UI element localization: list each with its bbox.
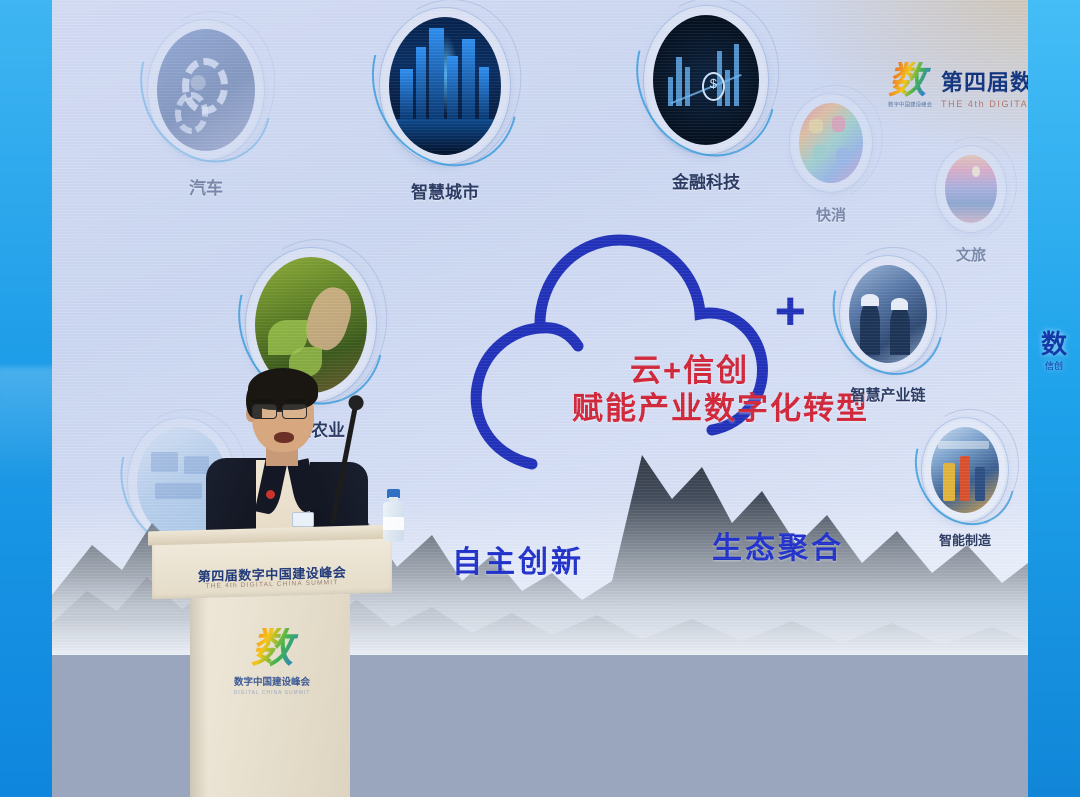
summit-title-en: THE 4th DIGITAL CHINA SUMMIT bbox=[941, 99, 1028, 109]
summit-logo-lockup: 数 数字中国建设峰会 第四届数字中国建设峰会 THE 4th DIGITAL C… bbox=[888, 62, 1028, 112]
gear-car-icon bbox=[150, 22, 262, 158]
right-panel-sub: 信创 bbox=[1028, 362, 1080, 372]
summit-logo-text: 第四届数字中国建设峰会 THE 4th DIGITAL CHINA SUMMIT bbox=[941, 65, 1028, 109]
slogan-ecosystem-aggregation: 生态聚合 bbox=[712, 523, 844, 567]
cloud-outline-graphic: + bbox=[454, 196, 784, 506]
node-industry-chain: 智慧产业链 bbox=[842, 258, 934, 370]
water-bottle bbox=[382, 489, 405, 541]
node-intelligent-manufacturing: 智能制造 bbox=[924, 420, 1006, 520]
eyebrow-left bbox=[252, 399, 274, 402]
scenery-icon bbox=[938, 148, 1004, 230]
right-panel-text: 数 信创 bbox=[1028, 330, 1080, 371]
right-led-panel: 数 信创 bbox=[1028, 0, 1080, 797]
industry-chain-icon bbox=[842, 258, 934, 370]
node-label: 金融科技 bbox=[672, 168, 740, 193]
node-label: 智慧城市 bbox=[411, 178, 479, 203]
summit-calligraphy-mark: 数 数字中国建设峰会 bbox=[888, 62, 932, 112]
left-led-panel bbox=[0, 0, 52, 797]
summit-title-cn: 第四届数字中国建设峰会 bbox=[941, 65, 1028, 97]
finance-chart-icon: $ bbox=[646, 8, 766, 152]
node-automotive: 汽车 bbox=[150, 22, 262, 158]
retail-goods-icon bbox=[792, 96, 870, 190]
podium-emblem-en: DIGITAL CHINA SUMMIT bbox=[234, 690, 311, 696]
podium-body-shadow bbox=[190, 594, 208, 797]
summit-mark-glyph: 数 bbox=[888, 62, 932, 100]
right-panel-glyph: 数 bbox=[1041, 329, 1067, 359]
name-badge bbox=[292, 512, 314, 527]
podium-emblem: 数 数字中国建设峰会 DIGITAL CHINA SUMMIT bbox=[234, 628, 311, 696]
eyebrow-right bbox=[284, 399, 306, 402]
node-label: 快消 bbox=[816, 204, 846, 225]
cloud-plus-sign: + bbox=[774, 284, 806, 338]
node-culture-tourism: 文旅 bbox=[938, 148, 1004, 230]
podium-front-face: 第四届数字中国建设峰会 THE 4th DIGITAL CHINA SUMMIT bbox=[152, 537, 392, 600]
node-fintech: $ 金融科技 bbox=[646, 8, 766, 152]
lapel-pin bbox=[266, 490, 275, 499]
podium-emblem-cn: 数字中国建设峰会 bbox=[234, 674, 311, 688]
node-fmcg: 快消 bbox=[792, 96, 870, 190]
summit-mark-caption: 数字中国建设峰会 bbox=[888, 100, 932, 108]
node-smart-city: 智慧城市 bbox=[382, 10, 508, 162]
node-label: 文旅 bbox=[956, 244, 986, 265]
stage-scene: + 云+信创 赋能产业数字化转型 汽车 bbox=[0, 0, 1080, 797]
node-label: 智能制造 bbox=[939, 530, 991, 549]
mouth bbox=[274, 432, 294, 443]
node-label: 智慧产业链 bbox=[850, 384, 925, 405]
podium: 第四届数字中国建设峰会 THE 4th DIGITAL CHINA SUMMIT… bbox=[148, 528, 396, 797]
podium-emblem-glyph: 数 bbox=[234, 628, 311, 670]
slogan-independent-innovation: 自主创新 bbox=[452, 537, 584, 581]
node-label: 汽车 bbox=[189, 174, 223, 199]
glasses-icon bbox=[252, 404, 314, 419]
left-panel-glow bbox=[0, 367, 56, 487]
factory-icon bbox=[924, 420, 1006, 520]
night-city-icon bbox=[382, 10, 508, 162]
